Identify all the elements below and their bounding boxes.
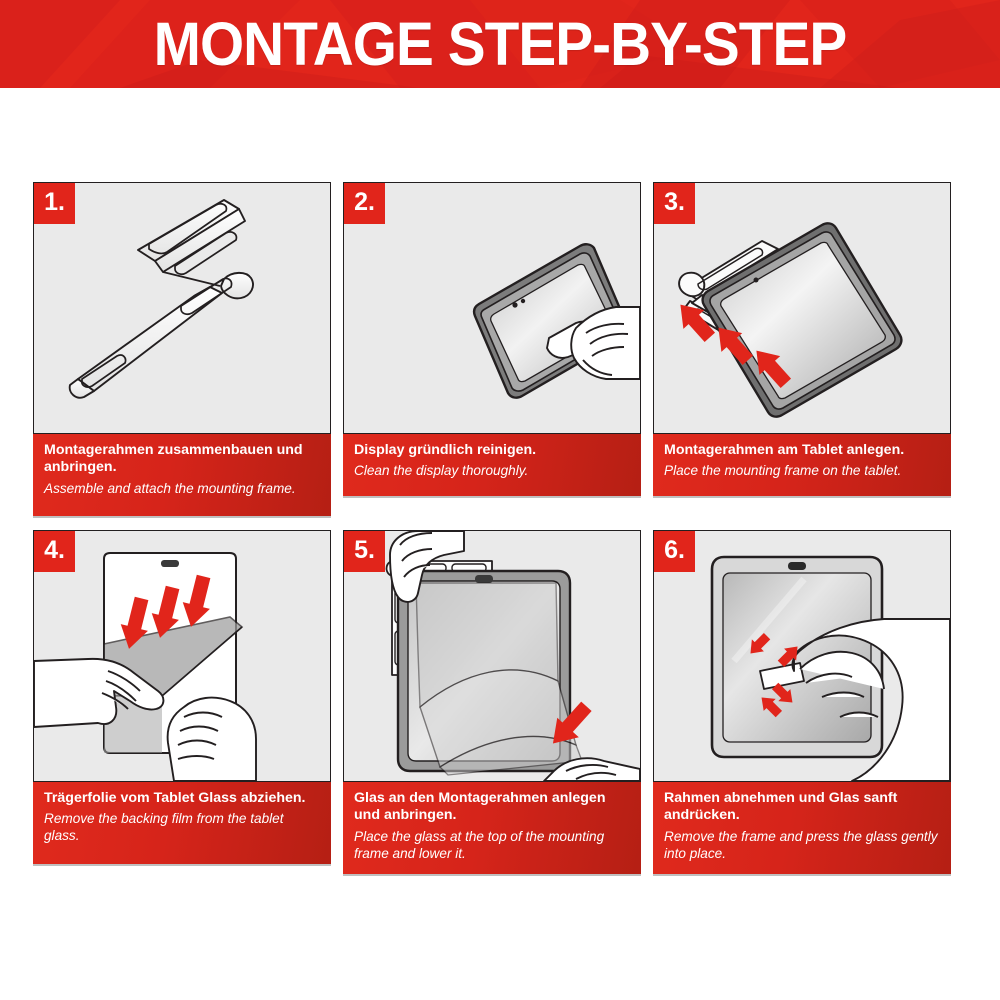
caption-de-1: Montagerahmen zusammenbauen und anbringe…	[44, 442, 321, 477]
step-panel-6: 6.	[653, 530, 951, 874]
camera-cutout	[788, 562, 806, 570]
page-title: MONTAGE STEP-BY-STEP	[35, 0, 965, 88]
step-panel-4: 4.	[33, 530, 331, 874]
caption-de-4: Trägerfolie vom Tablet Glass abziehen.	[44, 790, 321, 807]
illustration-area-3: 3.	[653, 182, 951, 434]
caption-en-3: Place the mounting frame on the tablet.	[664, 463, 941, 480]
caption-3: Montagerahmen am Tablet anlegen. Place t…	[653, 434, 951, 496]
camera-cutout	[475, 575, 493, 583]
step-badge-1: 1.	[34, 183, 75, 224]
caption-de-5: Glas an den Montagerahmen anlegen und an…	[354, 790, 631, 825]
caption-de-2: Display gründlich reinigen.	[354, 442, 631, 459]
caption-en-5: Place the glass at the top of the mounti…	[354, 829, 631, 862]
illustration-area-4: 4.	[33, 530, 331, 782]
caption-en-1: Assemble and attach the mounting frame.	[44, 481, 321, 498]
caption-en-4: Remove the backing film from the tablet …	[44, 811, 321, 844]
caption-2: Display gründlich reinigen. Clean the di…	[343, 434, 641, 496]
header-banner: MONTAGE STEP-BY-STEP	[0, 0, 1000, 88]
caption-de-6: Rahmen abnehmen und Glas sanft andrücken…	[664, 790, 941, 825]
step-badge-5: 5.	[344, 531, 385, 572]
step-panel-2: 2.	[343, 182, 641, 516]
tablet-body	[703, 223, 902, 416]
caption-de-3: Montagerahmen am Tablet anlegen.	[664, 442, 941, 459]
step-badge-6: 6.	[654, 531, 695, 572]
camera-dot	[754, 278, 759, 283]
illustration-area-2: 2.	[343, 182, 641, 434]
pressing-glass-with-squeegee-icon	[654, 531, 950, 781]
tablet-being-wiped-with-cloth-icon	[344, 183, 640, 433]
caption-5: Glas an den Montagerahmen anlegen und an…	[343, 782, 641, 874]
step-badge-4: 4.	[34, 531, 75, 572]
peeling-backing-film-from-glass-icon	[34, 531, 330, 781]
illustration-area-5: 5.	[343, 530, 641, 782]
camera-dot	[512, 302, 517, 307]
caption-en-2: Clean the display thoroughly.	[354, 463, 631, 480]
caption-6: Rahmen abnehmen und Glas sanft andrücken…	[653, 782, 951, 874]
step-panel-3: 3.	[653, 182, 951, 516]
step-badge-2: 2.	[344, 183, 385, 224]
glass-sheet	[416, 583, 582, 775]
step-panel-5: 5.	[343, 530, 641, 874]
sensor-dot	[521, 299, 525, 303]
steps-grid: 1.	[33, 182, 969, 888]
mounting-frame-assembly-icon	[34, 183, 330, 433]
step-panel-1: 1.	[33, 182, 331, 516]
camera-cutout	[161, 560, 179, 567]
lowering-glass-onto-frame-icon	[344, 531, 640, 781]
frame-placed-on-tablet-icon	[654, 183, 950, 433]
caption-en-6: Remove the frame and press the glass gen…	[664, 829, 941, 862]
right-hand	[168, 698, 256, 781]
caption-4: Trägerfolie vom Tablet Glass abziehen. R…	[33, 782, 331, 864]
step-badge-3: 3.	[654, 183, 695, 224]
illustration-area-1: 1.	[33, 182, 331, 434]
caption-1: Montagerahmen zusammenbauen und anbringe…	[33, 434, 331, 516]
illustration-area-6: 6.	[653, 530, 951, 782]
